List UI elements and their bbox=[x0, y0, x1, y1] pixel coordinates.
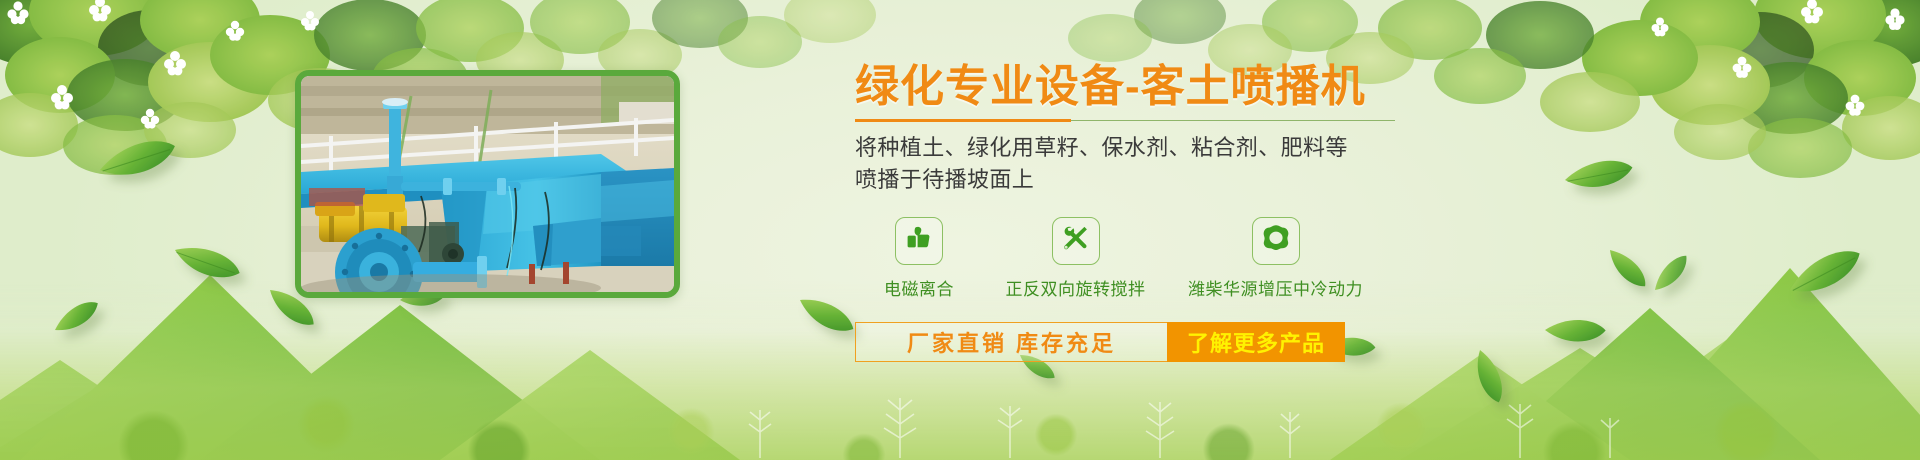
feature-label: 电磁离合 bbox=[884, 275, 954, 300]
cta-bar: 厂家直销 库存充足 了解更多产品 bbox=[855, 322, 1345, 362]
feature-icon-box bbox=[895, 217, 943, 265]
feature-label: 潍柴华源增压中冷动力 bbox=[1188, 275, 1363, 300]
tools-icon bbox=[1062, 224, 1090, 257]
feature-item-weichai-power: 潍柴华源增压中冷动力 bbox=[1168, 217, 1383, 300]
feature-item-bidirectional-mixing: 正反双向旋转搅拌 bbox=[983, 217, 1168, 300]
banner-subtitle: 将种植土、绿化用草籽、保水剂、粘合剂、肥料等 喷播于待播坡面上 bbox=[855, 132, 1555, 194]
engine-icon bbox=[1261, 223, 1291, 258]
cta-tagline: 厂家直销 库存充足 bbox=[855, 322, 1167, 362]
learn-more-button[interactable]: 了解更多产品 bbox=[1167, 322, 1345, 362]
banner-title: 绿化专业设备-客土喷播机 bbox=[855, 62, 1555, 111]
feature-list: 电磁离合 正反双向旋转搅拌 bbox=[855, 217, 1555, 300]
thumbs-up-icon bbox=[905, 225, 933, 256]
feature-icon-box bbox=[1052, 217, 1100, 265]
feature-icon-box bbox=[1252, 217, 1300, 265]
divider-orange-segment bbox=[855, 119, 1071, 122]
feature-label: 正反双向旋转搅拌 bbox=[1006, 275, 1146, 300]
product-photo-card[interactable] bbox=[295, 70, 680, 298]
title-divider bbox=[855, 119, 1395, 122]
banner-content: 绿化专业设备-客土喷播机 将种植土、绿化用草籽、保水剂、粘合剂、肥料等 喷播于待… bbox=[855, 62, 1555, 362]
feature-item-electromagnetic-clutch: 电磁离合 bbox=[855, 217, 983, 300]
promo-banner: 绿化专业设备-客土喷播机 将种植土、绿化用草籽、保水剂、粘合剂、肥料等 喷播于待… bbox=[0, 0, 1920, 460]
product-photo bbox=[301, 76, 674, 292]
divider-green-segment bbox=[1071, 120, 1395, 121]
